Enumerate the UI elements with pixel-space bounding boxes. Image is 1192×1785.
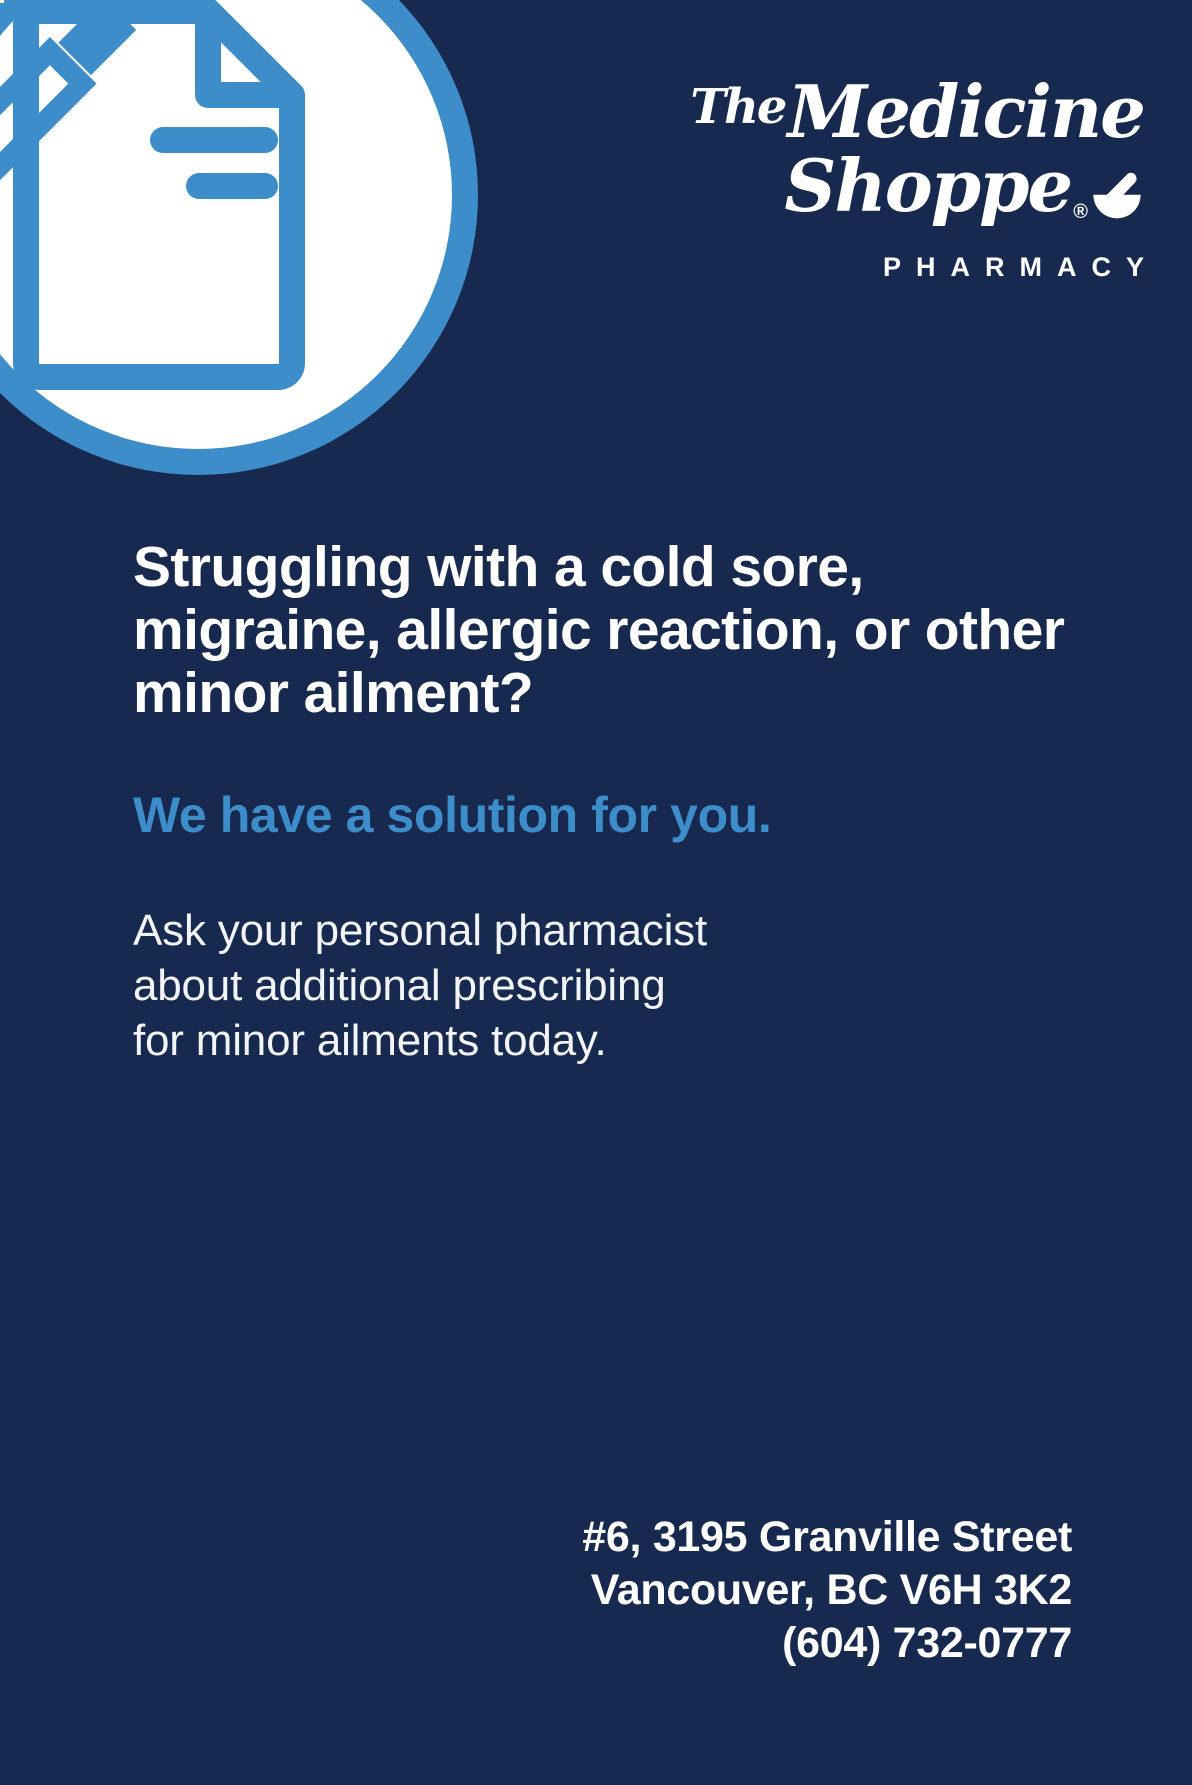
- store-contact-block: #6, 3195 Granville Street Vancouver, BC …: [582, 1511, 1072, 1670]
- copy-block: Struggling with a cold sore, migraine, a…: [133, 536, 1072, 1068]
- page-subheadline: We have a solution for you.: [133, 787, 1072, 843]
- brand-word-the: The: [690, 79, 785, 135]
- brand-logo: TheMedicine Shoppe® PHARMACY: [744, 76, 1144, 283]
- brand-subtitle-pharmacy: PHARMACY: [744, 252, 1159, 283]
- mortar-and-pestle-icon: [1090, 166, 1144, 220]
- body-line-1: Ask your personal pharmacist: [133, 903, 1072, 958]
- address-city-province-postal: Vancouver, BC V6H 3K2: [582, 1564, 1072, 1617]
- headline-line-2: migraine, allergic reaction,: [133, 598, 838, 662]
- page-headline: Struggling with a cold sore, migraine, a…: [133, 536, 1072, 725]
- headline-line-1: Struggling with a cold sore,: [133, 535, 864, 599]
- document-with-pencil-icon: [0, 0, 398, 397]
- badge-circle: [0, 0, 478, 475]
- poster-canvas: TheMedicine Shoppe® PHARMACY Struggling …: [0, 0, 1192, 1785]
- brand-script-wordmark: TheMedicine Shoppe®: [744, 76, 1144, 248]
- body-copy: Ask your personal pharmacist about addit…: [133, 903, 1072, 1068]
- brand-word-medicine: Medicine: [787, 69, 1144, 154]
- address-street: #6, 3195 Granville Street: [582, 1511, 1072, 1564]
- brand-line-medicine: TheMedicine: [690, 76, 1144, 148]
- brand-word-shoppe: Shoppe: [784, 150, 1071, 222]
- address-phone[interactable]: (604) 732-0777: [582, 1617, 1072, 1670]
- body-line-3: for minor ailments today.: [133, 1013, 1072, 1068]
- registered-trademark-icon: ®: [1073, 202, 1086, 222]
- body-line-2: about additional prescribing: [133, 958, 1072, 1013]
- brand-line-shoppe: Shoppe®: [784, 150, 1144, 222]
